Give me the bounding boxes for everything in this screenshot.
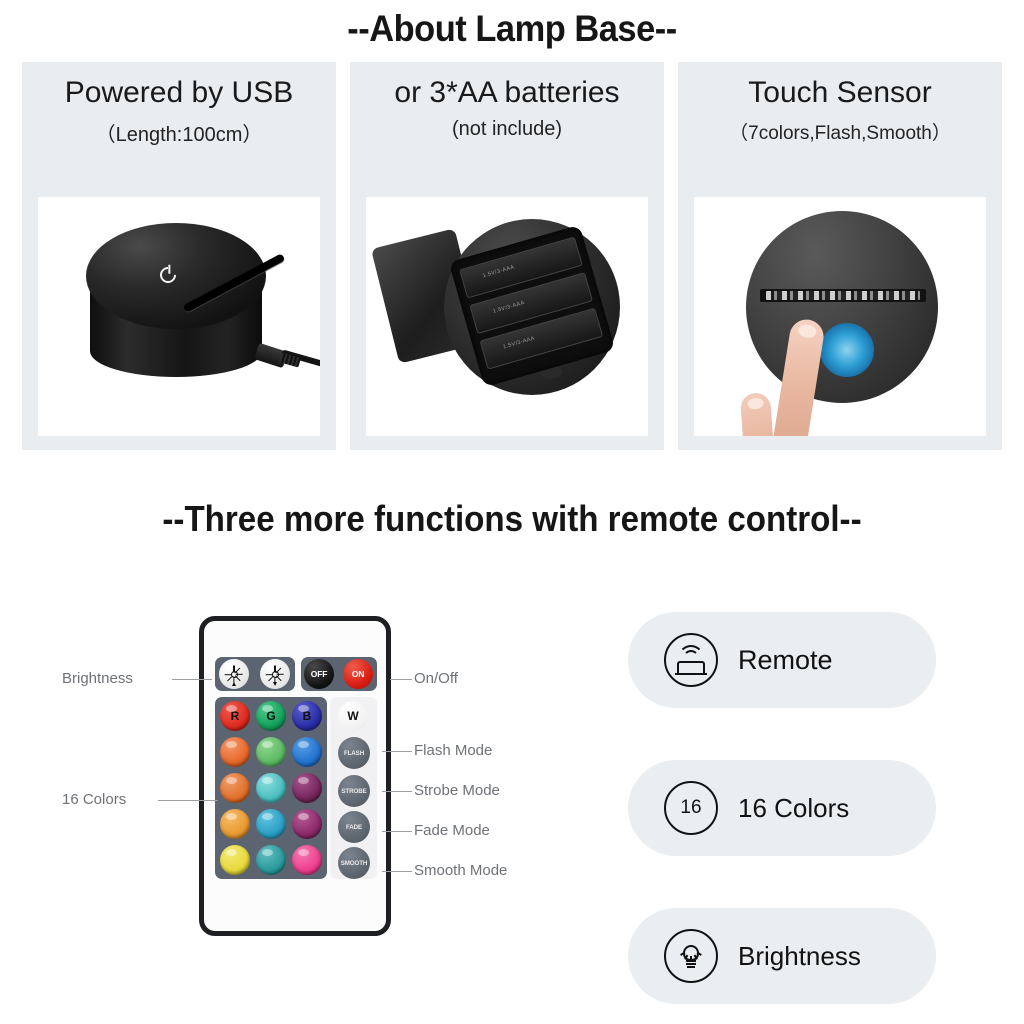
feature-pill-brightness: Brightness bbox=[628, 908, 936, 1004]
about-lamp-base-section: --About Lamp Base-- Powered by USB （Leng… bbox=[0, 0, 1024, 470]
color-button[interactable] bbox=[292, 845, 322, 875]
battery-slot-label: 1.5V/3-AAA bbox=[492, 300, 525, 315]
strobe-mode-button[interactable]: STROBE bbox=[338, 775, 370, 807]
color-button-green[interactable]: G bbox=[256, 701, 286, 731]
color-button-red[interactable]: R bbox=[220, 701, 250, 731]
color-button[interactable] bbox=[256, 809, 286, 839]
panel-heading: Powered by USB bbox=[22, 76, 336, 110]
color-button[interactable] bbox=[220, 773, 250, 803]
panel-heading: or 3*AA batteries bbox=[350, 76, 664, 110]
lightbulb-icon bbox=[664, 929, 718, 983]
callout-leader-line bbox=[382, 791, 412, 792]
brightness-button-group bbox=[215, 657, 295, 691]
callout-leader-line bbox=[390, 679, 412, 680]
feature-pill-label: Remote bbox=[738, 645, 833, 676]
color-button[interactable] bbox=[220, 737, 250, 767]
feature-pill-label: Brightness bbox=[738, 941, 861, 972]
smooth-mode-button[interactable]: SMOOTH bbox=[338, 847, 370, 879]
lamp-base-top-view bbox=[746, 211, 938, 403]
badge-count: 16 bbox=[664, 781, 718, 835]
color-button[interactable] bbox=[256, 845, 286, 875]
sun-down-icon bbox=[268, 667, 283, 682]
battery-compartment-photo: 1.5V/3-AAA 1.5V/3-AAA 1.5V/3-AAA bbox=[366, 197, 648, 436]
color-button[interactable] bbox=[256, 737, 286, 767]
on-button[interactable]: ON bbox=[343, 659, 373, 689]
callout-strobe-mode: Strobe Mode bbox=[414, 782, 500, 799]
callout-fade-mode: Fade Mode bbox=[414, 822, 490, 839]
panel-aa-batteries: or 3*AA batteries (not include) 1.5V/3-A… bbox=[350, 62, 664, 450]
color-button[interactable] bbox=[220, 845, 250, 875]
panel-subheading: （7colors,Flash,Smooth） bbox=[678, 118, 1002, 145]
callout-leader-line bbox=[158, 800, 218, 801]
callout-leader-line bbox=[382, 751, 412, 752]
page-title: --About Lamp Base-- bbox=[36, 8, 988, 50]
led-strip bbox=[760, 289, 926, 302]
remote-top-row: OFF ON bbox=[215, 657, 377, 691]
flash-mode-button[interactable]: FLASH bbox=[338, 737, 370, 769]
callout-flash-mode: Flash Mode bbox=[414, 742, 492, 759]
callout-smooth-mode: Smooth Mode bbox=[414, 862, 507, 879]
color-button-pad: R G B bbox=[215, 697, 327, 879]
power-symbol-icon bbox=[157, 264, 180, 287]
lamp-acrylic-slot bbox=[183, 253, 286, 313]
feature-pill-label: 16 Colors bbox=[738, 793, 849, 824]
lamp-top-surface bbox=[86, 223, 266, 329]
touch-sensor-glow bbox=[820, 323, 874, 377]
battery-well: 1.5V/3-AAA 1.5V/3-AAA 1.5V/3-AAA bbox=[449, 225, 616, 387]
panel-subheading: (not include) bbox=[350, 118, 664, 141]
remote-control-device: OFF ON R G B W FLASH STROBE FADE SMOOTH bbox=[199, 616, 391, 936]
brightness-down-button[interactable] bbox=[260, 659, 290, 689]
panel-powered-by-usb: Powered by USB （Length:100cm） bbox=[22, 62, 336, 450]
color-button-blue[interactable]: B bbox=[292, 701, 322, 731]
callout-leader-line bbox=[382, 871, 412, 872]
color-button[interactable] bbox=[292, 773, 322, 803]
sun-up-icon bbox=[227, 667, 242, 682]
color-button-white[interactable]: W bbox=[338, 701, 368, 731]
off-button[interactable]: OFF bbox=[304, 659, 334, 689]
callout-leader-line bbox=[172, 679, 212, 680]
callout-on-off: On/Off bbox=[414, 670, 458, 687]
color-button[interactable] bbox=[292, 809, 322, 839]
color-button[interactable] bbox=[292, 737, 322, 767]
panel-heading: Touch Sensor bbox=[678, 76, 1002, 110]
brightness-up-button[interactable] bbox=[219, 659, 249, 689]
touch-sensor-photo bbox=[694, 197, 986, 436]
battery-slot-label: 1.5V/3-AAA bbox=[503, 336, 536, 351]
panel-subheading: （Length:100cm） bbox=[22, 118, 336, 147]
circled-16-icon: 16 bbox=[664, 781, 718, 835]
callout-16-colors: 16 Colors bbox=[62, 791, 126, 808]
remote-signal-icon bbox=[664, 633, 718, 687]
lamp-base-underside: 1.5V/3-AAA 1.5V/3-AAA 1.5V/3-AAA bbox=[444, 219, 620, 395]
color-button[interactable] bbox=[256, 773, 286, 803]
panel-touch-sensor: Touch Sensor （7colors,Flash,Smooth） bbox=[678, 62, 1002, 450]
battery-slot-label: 1.5V/3-AAA bbox=[482, 264, 515, 279]
mode-button-pad: W FLASH STROBE FADE SMOOTH bbox=[330, 697, 377, 879]
callout-leader-line bbox=[382, 831, 412, 832]
power-button-group: OFF ON bbox=[301, 657, 377, 691]
remote-section-title: --Three more functions with remote contr… bbox=[41, 498, 983, 540]
lamp-base-usb-photo bbox=[38, 197, 320, 436]
hand-finger bbox=[740, 392, 774, 436]
feature-pill-remote: Remote bbox=[628, 612, 936, 708]
color-button[interactable] bbox=[220, 809, 250, 839]
fade-mode-button[interactable]: FADE bbox=[338, 811, 370, 843]
feature-pill-16-colors: 16 16 Colors bbox=[628, 760, 936, 856]
callout-brightness: Brightness bbox=[62, 670, 133, 687]
